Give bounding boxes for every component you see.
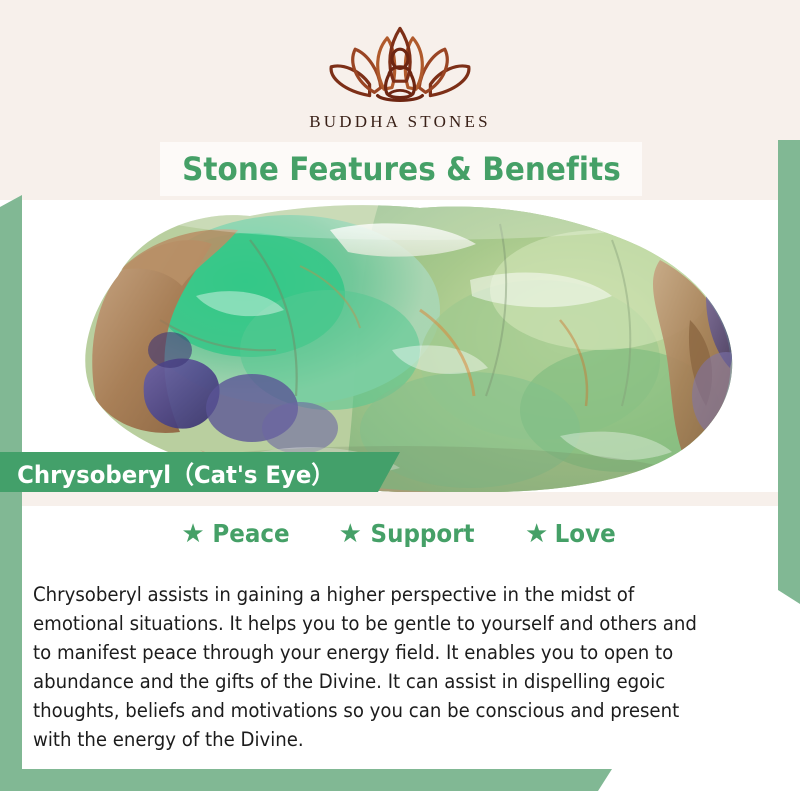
- benefit-item-peace: ★ Peace: [181, 519, 292, 548]
- benefit-label-support: Support: [370, 519, 474, 548]
- frame-border-left: [0, 195, 22, 791]
- stone-info-poster: BUDDHA STONES Stone Features & Benefits: [0, 0, 800, 800]
- page-title: Stone Features & Benefits: [182, 150, 621, 188]
- star-icon: ★: [525, 520, 548, 546]
- benefit-item-support: ★ Support: [339, 519, 479, 548]
- brand-logo-block: BUDDHA STONES: [0, 22, 800, 132]
- stone-description: Chrysoberyl assists in gaining a higher …: [33, 580, 719, 754]
- star-icon: ★: [181, 520, 204, 546]
- frame-border-right: [778, 140, 800, 604]
- benefit-label-love: Love: [555, 519, 616, 548]
- page-title-panel: Stone Features & Benefits: [160, 142, 642, 196]
- benefits-row: ★ Peace ★ Support ★ Love: [0, 512, 800, 554]
- star-icon: ★: [339, 520, 362, 546]
- frame-border-bottom: [0, 769, 612, 791]
- lotus-meditation-figure-icon: [320, 22, 480, 110]
- stone-name-banner: Chrysoberyl（Cat's Eye）: [0, 452, 400, 492]
- photo-under-strip: [0, 492, 800, 506]
- benefit-label-peace: Peace: [212, 519, 289, 548]
- benefit-item-love: ★ Love: [525, 519, 619, 548]
- stone-name-label: Chrysoberyl（Cat's Eye）: [0, 455, 334, 490]
- brand-wordmark: BUDDHA STONES: [0, 112, 800, 132]
